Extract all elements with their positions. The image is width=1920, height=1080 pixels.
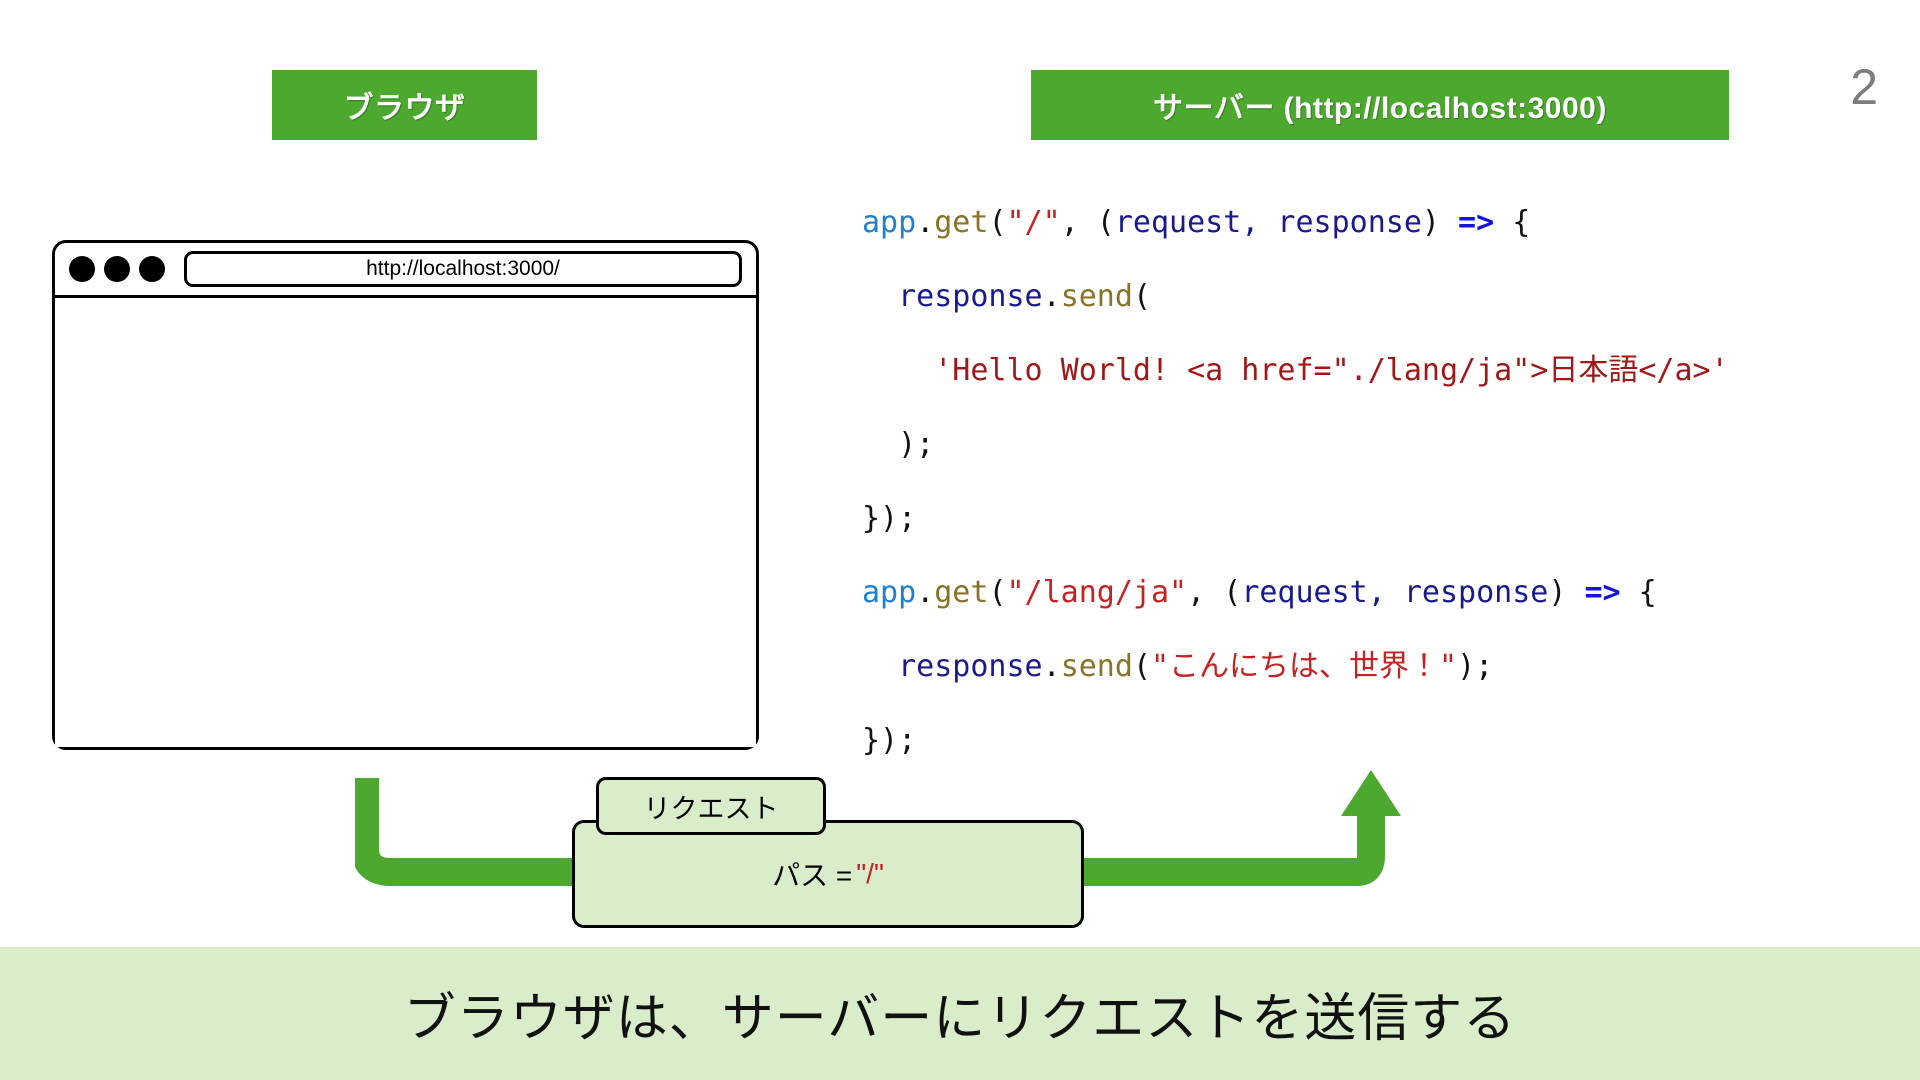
code-token: request, response	[1115, 205, 1422, 240]
code-line: app.get("/lang/ja", (request, response) …	[862, 556, 1902, 630]
code-token: {	[1621, 575, 1657, 610]
code-token: );	[1457, 649, 1493, 684]
code-token: });	[862, 723, 916, 758]
code-token: (	[988, 205, 1006, 240]
code-token: response	[898, 649, 1043, 684]
browser-chrome-bar: http://localhost:3000/	[55, 243, 756, 298]
code-token: )	[1422, 205, 1458, 240]
code-token: );	[862, 427, 934, 462]
code-token: "/"	[1007, 205, 1061, 240]
code-line: });	[862, 704, 1902, 778]
code-token: (	[1133, 279, 1151, 314]
code-token: response	[898, 279, 1043, 314]
code-token: {	[1494, 205, 1530, 240]
window-close-icon[interactable]	[69, 256, 95, 282]
browser-header-pill: ブラウザ	[272, 70, 537, 140]
code-token: send	[1061, 279, 1133, 314]
code-token: =>	[1458, 205, 1494, 240]
request-path-value: "/"	[856, 858, 884, 890]
code-token	[862, 649, 898, 684]
server-code-block: app.get("/", (request, response) => { re…	[862, 186, 1902, 778]
code-token: 'Hello World! <a href="./lang/ja">日本語</a…	[934, 353, 1728, 388]
code-token: (	[1133, 649, 1151, 684]
caption-band: ブラウザは、サーバーにリクエストを送信する	[0, 947, 1920, 1080]
code-token: =>	[1584, 575, 1620, 610]
caption-text: ブラウザは、サーバーにリクエストを送信する	[404, 976, 1516, 1051]
code-token: get	[934, 205, 988, 240]
code-line: 'Hello World! <a href="./lang/ja">日本語</a…	[862, 334, 1902, 408]
code-token: "/lang/ja"	[1007, 575, 1188, 610]
browser-viewport	[55, 298, 756, 747]
code-token: .	[916, 575, 934, 610]
server-header-pill: サーバー (http://localhost:3000)	[1031, 70, 1729, 140]
page-number: 2	[1850, 58, 1878, 116]
request-tab-text: リクエスト	[644, 787, 779, 826]
code-token: )	[1548, 575, 1584, 610]
code-token	[862, 353, 934, 388]
server-header-label: サーバー (http://localhost:3000)	[1153, 83, 1607, 127]
request-tab-label: リクエスト	[596, 777, 826, 835]
code-token: send	[1061, 649, 1133, 684]
code-token: "こんにちは、世界！"	[1151, 649, 1457, 684]
code-token: .	[1043, 279, 1061, 314]
browser-window-mock: http://localhost:3000/	[52, 240, 759, 750]
code-token: , (	[1061, 205, 1115, 240]
browser-header-label: ブラウザ	[344, 83, 466, 127]
code-token: (	[988, 575, 1006, 610]
code-line: );	[862, 408, 1902, 482]
code-token: .	[916, 205, 934, 240]
window-minimize-icon[interactable]	[104, 256, 130, 282]
code-token: .	[1043, 649, 1061, 684]
code-token	[862, 279, 898, 314]
url-text: http://localhost:3000/	[366, 257, 560, 281]
url-bar[interactable]: http://localhost:3000/	[184, 251, 742, 287]
code-token: request, response	[1241, 575, 1548, 610]
code-token: , (	[1187, 575, 1241, 610]
arrow-path-right	[1330, 802, 1371, 872]
request-detail-box: パス = "/"	[572, 820, 1084, 928]
code-line: response.send("こんにちは、世界！");	[862, 630, 1902, 704]
code-token: });	[862, 501, 916, 536]
request-path-label: パス =	[772, 854, 852, 894]
window-maximize-icon[interactable]	[139, 256, 165, 282]
code-line: });	[862, 482, 1902, 556]
code-token: app	[862, 575, 916, 610]
code-line: response.send(	[862, 260, 1902, 334]
code-token: get	[934, 575, 988, 610]
code-line: app.get("/", (request, response) => {	[862, 186, 1902, 260]
code-token: app	[862, 205, 916, 240]
